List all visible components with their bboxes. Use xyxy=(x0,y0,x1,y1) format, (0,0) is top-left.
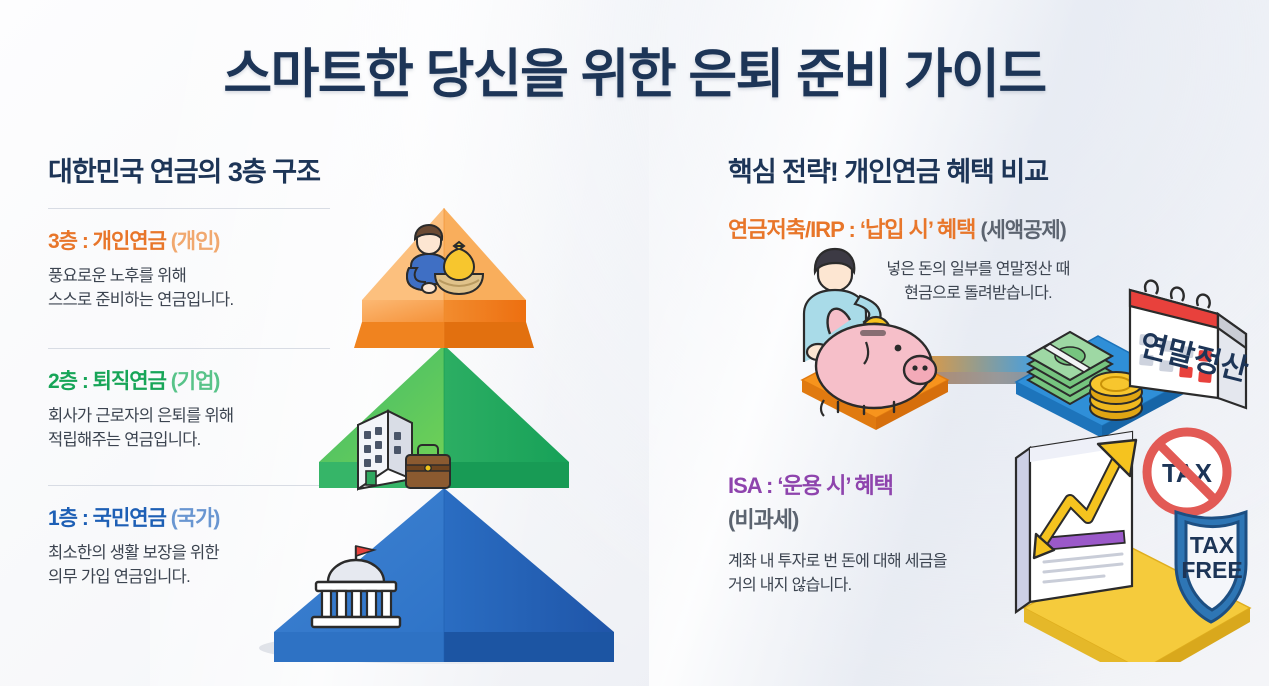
tier-3-title-main: 3층 : 개인연금 xyxy=(48,230,166,253)
isa-subheading-main: ISA : ‘운용 시’ 혜택 xyxy=(728,473,893,498)
tier-3-title-paren: (개인) xyxy=(171,230,220,253)
shield-label-line1: TAX xyxy=(1190,532,1235,558)
isa-subheading: ISA : ‘운용 시’ 혜택 xyxy=(728,468,893,500)
tier-2-title-main: 2층 : 퇴직연금 xyxy=(48,370,166,393)
office-building-icon xyxy=(358,411,412,489)
right-section-heading: 핵심 전략! 개인연금 혜택 비교 xyxy=(728,150,1260,189)
shield-label-line2: FREE xyxy=(1181,557,1242,583)
tier-1-title-main: 1층 : 국민연금 xyxy=(48,507,166,530)
tier-2-title-paren: (기업) xyxy=(171,370,220,393)
calendar-icon: 연말정산 xyxy=(1130,281,1252,408)
tier-1-title-paren: (국가) xyxy=(171,507,220,530)
person-with-money-bag-basket-icon xyxy=(399,222,499,307)
office-building-and-briefcase-icon xyxy=(350,403,460,503)
page-title: 스마트한 당신을 위한 은퇴 준비 가이드 xyxy=(0,32,1269,108)
pension-pyramid-diagram xyxy=(244,170,664,670)
government-building-icon xyxy=(306,542,406,637)
left-column: 대한민국 연금의 3층 구조 3층 : 개인연금 (개인) 풍요로운 노후를 위… xyxy=(48,150,668,670)
right-column: 핵심 전략! 개인연금 혜택 비교 연금저축/IRP : ‘납입 시’ 혜택 (… xyxy=(700,150,1260,670)
isa-subheading-sub: (비과세) xyxy=(728,502,798,534)
no-tax-prohibition-icon: TAX xyxy=(1147,432,1227,512)
isa-illustration: TAX TAX FREE xyxy=(1000,422,1269,662)
irp-illustration: 연말정산 xyxy=(698,230,1268,450)
